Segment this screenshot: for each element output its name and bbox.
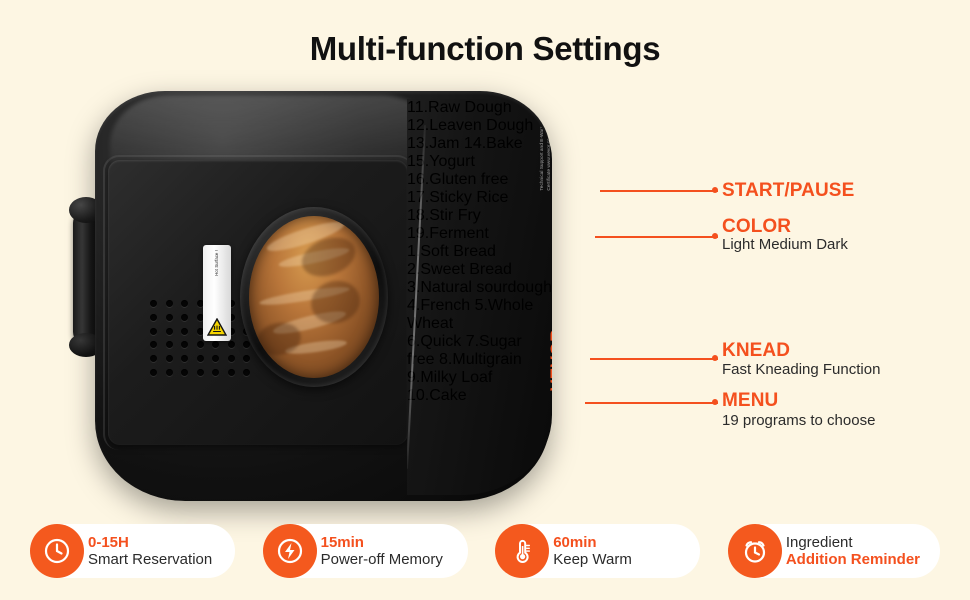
program-list-column-4: 16.Gluten free 17.Sticky Rice 18.Stir Fr… xyxy=(407,171,552,243)
bread-loaf xyxy=(249,216,379,378)
warning-sticker: Hot Surface ! xyxy=(203,245,231,341)
feature-line1: 15min xyxy=(321,534,443,551)
viewing-window xyxy=(240,207,388,387)
leader-line-menu xyxy=(585,402,718,404)
leader-dot-color xyxy=(712,233,718,239)
callout-menu-label: MENU xyxy=(722,390,778,412)
feature-line2: Addition Reminder xyxy=(786,551,920,569)
leader-line-color xyxy=(595,236,718,238)
leader-dot-menu xyxy=(712,399,718,405)
callout-menu-sub: 19 programs to choose xyxy=(722,412,875,429)
callout-knead-label: KNEAD xyxy=(722,340,790,362)
callout-knead-sub: Fast Kneading Function xyxy=(722,361,880,378)
feature-line1: 60min xyxy=(553,534,632,551)
feature-pill-addition-reminder: Ingredient Addition Reminder xyxy=(728,524,940,578)
control-panel: 11.Raw Dough 12.Leaven Dough 13.Jam 14.B… xyxy=(407,99,552,495)
hot-surface-warning-triangle-icon xyxy=(207,318,227,336)
brand-logo: VEVOR xyxy=(547,329,552,391)
feature-line2: Power-off Memory xyxy=(321,551,443,569)
page-title: Multi-function Settings xyxy=(0,30,970,68)
warranty-text: Technical Support and E-Warranty Certifi… xyxy=(539,117,552,191)
callout-color-sub: Light Medium Dark xyxy=(722,236,848,253)
alarm-clock-icon xyxy=(728,524,782,578)
lightning-icon xyxy=(263,524,317,578)
program-list-column-2: 6.Quick 7.Sugar free 8.Multigrain 9.Milk… xyxy=(407,333,552,405)
leader-line-knead xyxy=(590,358,718,360)
feature-line2: Keep Warm xyxy=(553,551,632,569)
feature-pill-smart-reservation: 0-15H Smart Reservation xyxy=(30,524,235,578)
thermometer-icon xyxy=(495,524,549,578)
feature-line1: 0-15H xyxy=(88,534,212,551)
leader-dot-start-pause xyxy=(712,187,718,193)
feature-pill-keep-warm: 60min Keep Warm xyxy=(495,524,700,578)
menu-button[interactable] xyxy=(547,485,552,495)
clock-icon xyxy=(30,524,84,578)
callout-color-label: COLOR xyxy=(722,216,791,238)
leader-dot-knead xyxy=(712,355,718,361)
leader-line-start-pause xyxy=(600,190,718,192)
feature-pill-power-off-memory: 15min Power-off Memory xyxy=(263,524,468,578)
feature-line2: Smart Reservation xyxy=(88,551,212,569)
product-image: Hot Surface ! 11.Raw Dough 12.Leaven Dou… xyxy=(55,85,635,505)
program-list-column-1: 1.Soft Bread 2.Sweet Bread 3.Natural sou… xyxy=(407,243,552,333)
callout-start-pause-label: START/PAUSE xyxy=(722,180,854,202)
feature-line1: Ingredient xyxy=(786,534,920,551)
warning-text: Hot Surface ! xyxy=(214,250,220,276)
feature-pill-row: 0-15H Smart Reservation 15min Power-off … xyxy=(0,524,970,578)
